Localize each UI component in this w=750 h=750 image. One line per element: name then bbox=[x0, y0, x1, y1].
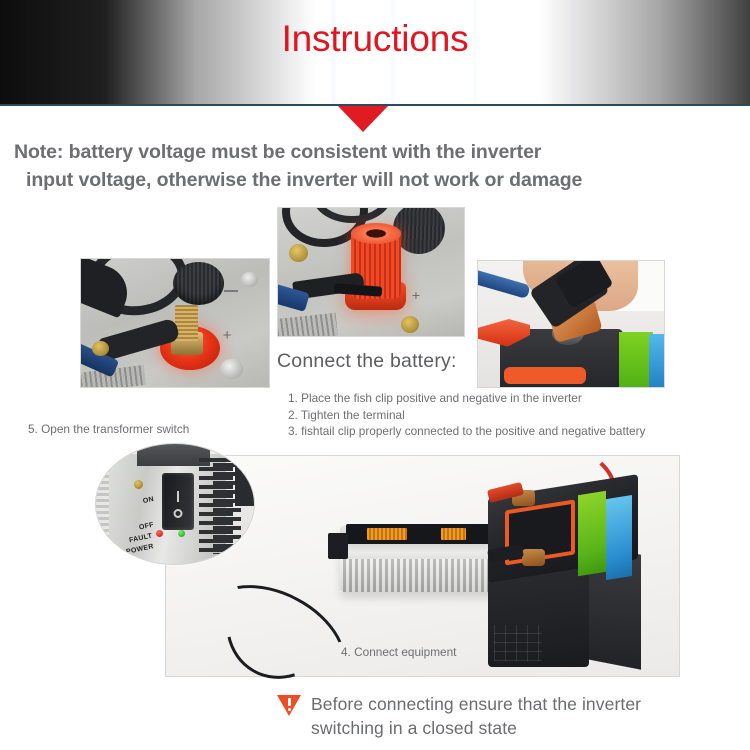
switch-off-marking-icon bbox=[174, 509, 183, 518]
led-segment-left bbox=[367, 528, 407, 540]
photo-content: + bbox=[278, 208, 464, 336]
battery-blue-label bbox=[606, 495, 632, 580]
brass-terminal-post bbox=[175, 305, 198, 341]
list-item: 3. fishtail clip properly connected to t… bbox=[288, 423, 645, 440]
exclamation-dot bbox=[288, 708, 291, 711]
inverter-output-plug bbox=[328, 533, 349, 559]
photo-inverter-terminal-red-ring: + bbox=[80, 258, 270, 388]
red-terminal-cap-opening bbox=[351, 223, 401, 243]
black-knob bbox=[173, 262, 224, 306]
photo-content bbox=[478, 261, 664, 387]
note-line-2: input voltage, otherwise the inverter wi… bbox=[14, 166, 740, 194]
warning-triangle-icon bbox=[277, 695, 301, 716]
led-segment-right bbox=[441, 528, 466, 540]
warning-line-2: switching in a closed state bbox=[311, 716, 641, 740]
page-title: Instructions bbox=[0, 18, 750, 60]
power-rocker-switch[interactable] bbox=[162, 473, 194, 531]
inverter-dark-right-edge bbox=[235, 446, 255, 506]
battery-green-label bbox=[619, 332, 652, 388]
list-item: 1. Place the fish clip positive and nega… bbox=[288, 390, 645, 407]
list-item: 2. Tighten the terminal bbox=[288, 407, 645, 424]
exclamation-bar bbox=[288, 698, 291, 706]
battery-green-label bbox=[578, 491, 606, 577]
plus-marking: + bbox=[412, 287, 420, 303]
inverter-heatsink-fins bbox=[340, 559, 504, 592]
panel-screw bbox=[134, 480, 143, 489]
inverter-led-display bbox=[346, 524, 500, 544]
car-battery bbox=[484, 482, 658, 667]
battery-orange-handle bbox=[504, 367, 586, 385]
note-warning-text: Note: battery voltage must be consistent… bbox=[14, 138, 740, 194]
connect-steps-list: 1. Place the fish clip positive and nega… bbox=[288, 390, 645, 440]
inset-transformer-switch-closeup: ON OFF FAULT POWER bbox=[95, 443, 255, 565]
triangle-down-icon bbox=[338, 106, 388, 132]
bottom-warning-text: Before connecting ensure that the invert… bbox=[311, 692, 641, 740]
minus-marking bbox=[224, 290, 238, 292]
warning-line-1: Before connecting ensure that the invert… bbox=[311, 694, 641, 714]
connect-battery-heading: Connect the battery: bbox=[277, 350, 457, 373]
silver-screw-upper bbox=[241, 272, 258, 287]
label-step-4-connect-equipment: 4. Connect equipment bbox=[341, 645, 456, 659]
note-line-1: Note: battery voltage must be consistent… bbox=[14, 141, 541, 163]
brass-screw-upper bbox=[289, 244, 308, 262]
switch-on-marking-icon bbox=[177, 491, 179, 502]
label-step-5-open-transformer-switch: 5. Open the transformer switch bbox=[28, 422, 189, 436]
photo-content: + bbox=[81, 259, 269, 387]
battery-blue-label bbox=[649, 334, 665, 388]
bottom-warning-row: Before connecting ensure that the invert… bbox=[277, 692, 641, 740]
photo-hand-battery-clamp bbox=[477, 260, 665, 388]
battery-negative-terminal bbox=[522, 549, 545, 566]
photo-red-terminal-cap: + bbox=[277, 207, 465, 337]
plus-marking: + bbox=[220, 329, 234, 343]
silver-screw-lower bbox=[220, 359, 243, 379]
battery-front-grid-texture bbox=[494, 625, 543, 660]
